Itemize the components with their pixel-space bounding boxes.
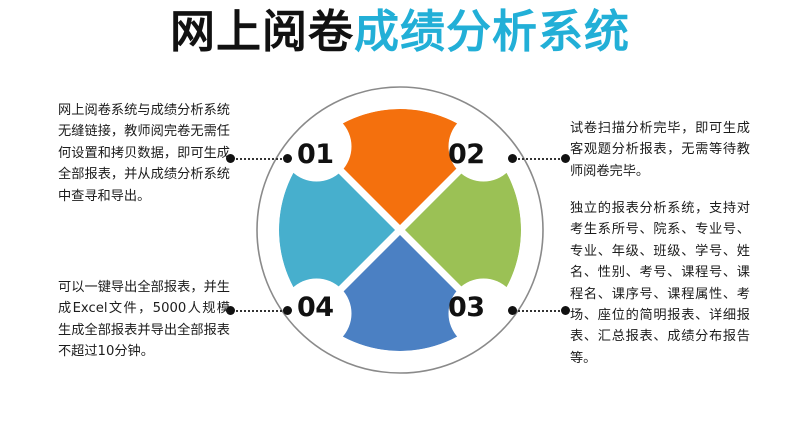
wheel-label-03: 03 xyxy=(448,294,485,321)
connector-dotted-02 xyxy=(518,158,560,160)
wheel-graphic xyxy=(255,85,545,375)
page-title-primary: 网上阅卷 xyxy=(170,9,354,54)
connector-dot-outer-03 xyxy=(561,306,570,315)
connector-dot-inner-01 xyxy=(283,154,292,163)
connector-line-02 xyxy=(508,154,570,163)
connector-dotted-04 xyxy=(236,310,282,312)
page-title: 网上阅卷 成绩分析系统 xyxy=(0,0,800,62)
connector-dot-inner-02 xyxy=(508,154,517,163)
connector-dot-outer-02 xyxy=(561,154,570,163)
connector-line-03 xyxy=(508,306,570,315)
connector-line-04 xyxy=(226,306,292,315)
description-text-02: 试卷扫描分析完毕，即可生成客观题分析报表，无需等待教师阅卷完毕。 xyxy=(570,118,750,182)
page-title-accent: 成绩分析系统 xyxy=(354,9,630,54)
four-segment-wheel-diagram: 01 02 03 04 xyxy=(255,85,545,375)
connector-dot-inner-04 xyxy=(283,306,292,315)
connector-dotted-01 xyxy=(236,158,282,160)
description-text-04: 可以一键导出全部报表，并生成Excel文件，5000人规模生成全部报表并导出全部… xyxy=(58,277,230,363)
connector-line-01 xyxy=(226,154,292,163)
connector-dot-inner-03 xyxy=(508,306,517,315)
connector-dotted-03 xyxy=(518,310,560,312)
description-text-01: 网上阅卷系统与成绩分析系统无缝链接，教师阅完卷无需任何设置和拷贝数据，即可生成全… xyxy=(58,100,230,207)
description-text-03: 独立的报表分析系统，支持对考生系所号、院系、专业号、专业、年级、班级、学号、姓名… xyxy=(570,198,750,369)
wheel-label-04: 04 xyxy=(297,294,334,321)
wheel-label-02: 02 xyxy=(448,141,485,168)
wheel-label-01: 01 xyxy=(297,141,334,168)
